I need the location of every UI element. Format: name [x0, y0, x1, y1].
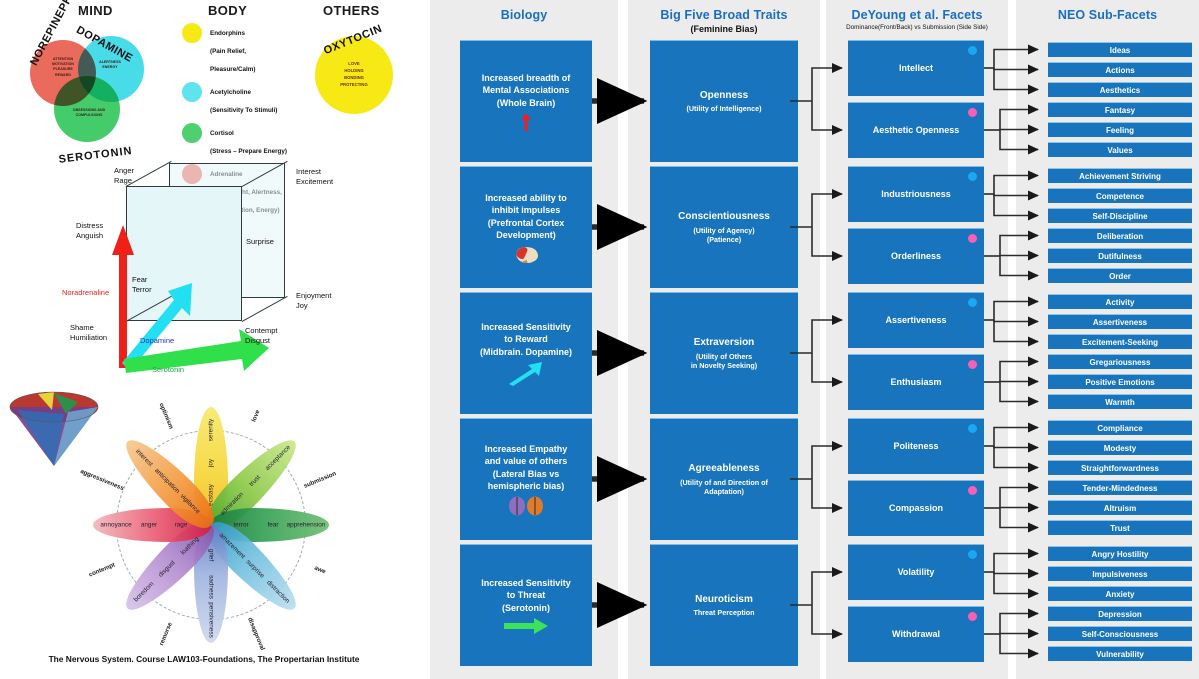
column-subtitle: Dominance(Front/Back) vs Submission (Sid…	[826, 24, 1008, 31]
facet-pole-dot-pink	[968, 108, 977, 117]
biology-box[interactable]: Increased ability toinhibit impulses(Pre…	[460, 166, 592, 288]
wheel-emotion-label: remorse	[158, 621, 174, 646]
biology-box[interactable]: Increased breadth ofMental Associations(…	[460, 40, 592, 162]
column-panel-big-five: Big Five Broad Traits(Feminine Bias)Open…	[628, 0, 820, 679]
cube-label-anger-rage: AngerRage	[114, 166, 134, 186]
neo-subfacet-bar[interactable]: Anxiety	[1048, 586, 1192, 601]
deyoung-facet-name: Withdrawal	[892, 628, 940, 640]
neo-subfacet-bar[interactable]: Feeling	[1048, 122, 1192, 137]
facet-pole-dot-blue	[968, 550, 977, 559]
column-title: NEO Sub-Facets	[1016, 8, 1199, 22]
legend-label: Cortisol(Stress – Prepare Energy)	[210, 130, 287, 155]
wheel-emotion-label: ecstasy	[208, 484, 215, 506]
figure-caption: The Nervous System. Course LAW103-Founda…	[0, 654, 408, 664]
big-five-box[interactable]: NeuroticismThreat Perception	[650, 544, 798, 666]
deyoung-facet-box[interactable]: Industriousness	[848, 166, 984, 222]
deyoung-facet-box[interactable]: Withdrawal	[848, 606, 984, 662]
right-arrow-green-icon	[504, 618, 548, 634]
neo-subfacet-bar[interactable]: Fantasy	[1048, 102, 1192, 117]
big-five-trait-name: Conscientiousness	[678, 210, 770, 224]
neo-subfacet-bar[interactable]: Straightforwardness	[1048, 460, 1192, 475]
column-panel-neo: NEO Sub-FacetsIdeasActionsAestheticsFant…	[1016, 0, 1199, 679]
wheel-emotion-label: anger	[141, 522, 157, 529]
big-five-trait-name: Openness	[700, 89, 748, 103]
wheel-emotion-label: love	[251, 409, 262, 423]
deyoung-facet-name: Enthusiasm	[890, 376, 941, 388]
big-five-trait-name: Neuroticism	[695, 593, 753, 607]
deyoung-facet-name: Intellect	[899, 62, 933, 74]
deyoung-facet-name: Orderliness	[891, 250, 941, 262]
neo-subfacet-bar[interactable]: Gregariousness	[1048, 354, 1192, 369]
column-panel-biology: BiologyIncreased breadth ofMental Associ…	[430, 0, 618, 679]
cube-axis-noradrenaline: Noradrenaline	[62, 288, 109, 297]
legend-color-dot	[182, 123, 202, 143]
wheel-emotion-label: submission	[303, 470, 337, 490]
legend-item: Acetylcholine(Sensitivity To Stimuli)	[182, 81, 312, 117]
neo-subfacet-bar[interactable]: Angry Hostility	[1048, 546, 1192, 561]
emotion-cube-block: AngerRage InterestExcitement DistressAng…	[0, 163, 408, 393]
plutchik-wheel-block: ecstasyjoyserenityloveadmirationtrustacc…	[0, 390, 408, 679]
deyoung-facet-box[interactable]: Orderliness	[848, 228, 984, 284]
big-five-trait-name: Extraversion	[694, 336, 755, 350]
big-five-trait-name: Agreeableness	[688, 462, 759, 476]
column-title: Big Five Broad Traits	[628, 8, 820, 22]
plutchik-emotion-wheel: ecstasyjoyserenityloveadmirationtrustacc…	[86, 400, 336, 650]
left-illustration-panel: MIND BODY OTHERS ATTENTIONMOTIVATIONPLEA…	[0, 0, 408, 679]
legend-item: Endorphins(Pain Relief,Pleasure/Calm)	[182, 22, 312, 76]
venn-diagram: ATTENTIONMOTIVATIONPLEASUREREWARD ALERTN…	[22, 16, 174, 162]
facet-pole-dot-blue	[968, 298, 977, 307]
big-five-trait-sub: (Utility of Intelligence)	[686, 104, 761, 114]
deyoung-facet-name: Volatility	[898, 566, 935, 578]
wheel-emotion-label: contempt	[88, 562, 116, 579]
facet-pole-dot-pink	[968, 486, 977, 495]
deyoung-facet-box[interactable]: Assertiveness	[848, 292, 984, 348]
deyoung-facet-box[interactable]: Politeness	[848, 418, 984, 474]
facet-pole-dot-blue	[968, 424, 977, 433]
legend-item: Cortisol(Stress – Prepare Energy)	[182, 122, 312, 158]
neo-subfacet-bar[interactable]: Actions	[1048, 62, 1192, 77]
legend-color-dot	[182, 23, 202, 43]
neo-subfacet-bar[interactable]: Assertiveness	[1048, 314, 1192, 329]
cube-label-surprise: Surprise	[246, 237, 274, 247]
wheel-emotion-label: grief	[208, 549, 215, 561]
cube-label-enjoyment-joy: EnjoymentJoy	[296, 291, 331, 311]
cube-edge	[242, 296, 288, 322]
column-title: DeYoung et al. Facets	[826, 8, 1008, 22]
deyoung-facet-box[interactable]: Enthusiasm	[848, 354, 984, 410]
biology-box-text: Increased Sensitivityto Reward(Midbrain.…	[480, 321, 572, 357]
neo-subfacet-bar[interactable]: Compliance	[1048, 420, 1192, 435]
neo-subfacet-bar[interactable]: Aesthetics	[1048, 82, 1192, 97]
neo-subfacet-bar[interactable]: Dutifulness	[1048, 248, 1192, 263]
deyoung-facet-box[interactable]: Compassion	[848, 480, 984, 536]
neo-subfacet-bar[interactable]: Impulsiveness	[1048, 566, 1192, 581]
venn-heading-others: OTHERS	[323, 3, 380, 18]
wheel-emotion-label: terror	[233, 522, 248, 529]
deyoung-facet-name: Aesthetic Openness	[873, 124, 960, 136]
wheel-emotion-label: awe	[313, 565, 326, 576]
neo-subfacet-bar[interactable]: Altruism	[1048, 500, 1192, 515]
neo-subfacet-bar[interactable]: Deliberation	[1048, 228, 1192, 243]
cube-axis-dopamine: Dopamine	[140, 336, 174, 345]
neo-subfacet-bar[interactable]: Self-Consciousness	[1048, 626, 1192, 641]
facet-pole-dot-pink	[968, 234, 977, 243]
big-five-trait-sub: (Utility of Agency)(Patience)	[693, 226, 754, 245]
venn-text-serotonin: OBSESSIONS ANDCOMPULSIONS	[59, 108, 119, 118]
wheel-emotion-label: fear	[267, 522, 278, 529]
neo-subfacet-bar[interactable]: Tender-Mindedness	[1048, 480, 1192, 495]
neo-subfacet-bar[interactable]: Ideas	[1048, 42, 1192, 57]
neo-subfacet-bar[interactable]: Competence	[1048, 188, 1192, 203]
facet-pole-dot-pink	[968, 360, 977, 369]
neo-subfacet-bar[interactable]: Achievement Striving	[1048, 168, 1192, 183]
neo-subfacet-bar[interactable]: Activity	[1048, 294, 1192, 309]
biology-box-text: Increased Empathyand value of others(Lat…	[485, 443, 568, 492]
cube-label-distress-anguish: DistressAnguish	[76, 221, 103, 241]
biology-box[interactable]: Increased Empathyand value of others(Lat…	[460, 418, 592, 540]
biology-box-text: Increased Sensitivityto Threat(Serotonin…	[481, 577, 571, 613]
oxytocin-inner-text: LOVEHOLDINGBONDINGPROTECTING	[315, 60, 393, 89]
brain-sagittal-icon	[513, 245, 539, 263]
big-five-trait-sub: (Utility of and Direction ofAdaptation)	[680, 478, 768, 497]
wheel-emotion-label: pensiveness	[208, 602, 215, 638]
big-five-trait-sub: (Utility of Othersin Novelty Seeking)	[691, 352, 757, 371]
wheel-emotion-label: optimism	[157, 402, 174, 430]
diagonal-arrow-cyan-icon	[509, 362, 543, 386]
neo-subfacet-bar[interactable]: Excitement-Seeking	[1048, 334, 1192, 349]
cube-axis-serotonin: Serotonin	[152, 365, 184, 374]
deyoung-facet-name: Compassion	[889, 502, 943, 514]
neo-subfacet-bar[interactable]: Order	[1048, 268, 1192, 283]
two-brains-icon	[508, 496, 544, 516]
deyoung-facet-box[interactable]: Volatility	[848, 544, 984, 600]
column-title: Biology	[430, 8, 618, 22]
facet-pole-dot-blue	[968, 172, 977, 181]
facet-pole-dot-blue	[968, 46, 977, 55]
column-panel-deyoung: DeYoung et al. FacetsDominance(Front/Bac…	[826, 0, 1008, 679]
biology-box[interactable]: Increased Sensitivityto Threat(Serotonin…	[460, 544, 592, 666]
big-five-trait-sub: Threat Perception	[693, 608, 754, 618]
cube-label-interest-excitement: InterestExcitement	[296, 167, 333, 187]
big-five-box[interactable]: Extraversion(Utility of Othersin Novelty…	[650, 292, 798, 414]
neo-subfacet-bar[interactable]: Trust	[1048, 520, 1192, 535]
wheel-emotion-label: aggressiveness	[79, 468, 125, 492]
wheel-emotion-label: annoyance	[100, 522, 131, 529]
neo-subfacet-bar[interactable]: Positive Emotions	[1048, 374, 1192, 389]
biology-box[interactable]: Increased Sensitivityto Reward(Midbrain.…	[460, 292, 592, 414]
legend-label: Acetylcholine(Sensitivity To Stimuli)	[210, 89, 277, 114]
legend-label: Endorphins(Pain Relief,Pleasure/Calm)	[210, 30, 256, 73]
neo-subfacet-bar[interactable]: Self-Discipline	[1048, 208, 1192, 223]
cube-label-fear-terror: FearTerror	[132, 275, 152, 295]
deyoung-facet-box[interactable]: Intellect	[848, 40, 984, 96]
deyoung-facet-box[interactable]: Aesthetic Openness	[848, 102, 984, 158]
big-five-box[interactable]: Conscientiousness(Utility of Agency)(Pat…	[650, 166, 798, 288]
wheel-emotion-label: rage	[175, 522, 188, 529]
cube-label-shame-humiliation: ShameHumiliation	[70, 323, 107, 343]
neo-subfacet-bar[interactable]: Vulnerability	[1048, 646, 1192, 661]
biology-box-text: Increased ability toinhibit impulses(Pre…	[485, 192, 567, 241]
venn-heading-body: BODY	[208, 3, 247, 18]
biology-box-text: Increased breadth ofMental Associations(…	[482, 72, 571, 108]
personality-flowchart: BiologyIncreased breadth ofMental Associ…	[408, 0, 1199, 679]
big-five-box[interactable]: Agreeableness(Utility of and Direction o…	[650, 418, 798, 540]
wheel-emotion-label: disapproval	[246, 617, 266, 652]
neo-subfacet-bar[interactable]: Modesty	[1048, 440, 1192, 455]
wheel-emotion-label: sadness	[208, 575, 215, 599]
wheel-emotion-label: serenity	[208, 419, 215, 441]
up-arrow-red-icon	[513, 113, 539, 131]
cube-label-contempt-disgust: ContemptDisgust	[245, 326, 278, 346]
neo-subfacet-bar[interactable]: Values	[1048, 142, 1192, 157]
deyoung-facet-name: Politeness	[893, 440, 938, 452]
wheel-emotion-label: joy	[208, 459, 215, 467]
column-subtitle: (Feminine Bias)	[628, 24, 820, 34]
neurotransmitter-venn-block: MIND BODY OTHERS ATTENTIONMOTIVATIONPLEA…	[0, 0, 408, 168]
diagram-root: MIND BODY OTHERS ATTENTIONMOTIVATIONPLEA…	[0, 0, 1199, 679]
big-five-box[interactable]: Openness(Utility of Intelligence)	[650, 40, 798, 162]
neo-subfacet-bar[interactable]: Depression	[1048, 606, 1192, 621]
deyoung-facet-name: Industriousness	[881, 188, 951, 200]
legend-color-dot	[182, 82, 202, 102]
deyoung-facet-name: Assertiveness	[885, 314, 946, 326]
neo-subfacet-bar[interactable]: Warmth	[1048, 394, 1192, 409]
wheel-emotion-label: apprehension	[287, 522, 326, 529]
facet-pole-dot-pink	[968, 612, 977, 621]
